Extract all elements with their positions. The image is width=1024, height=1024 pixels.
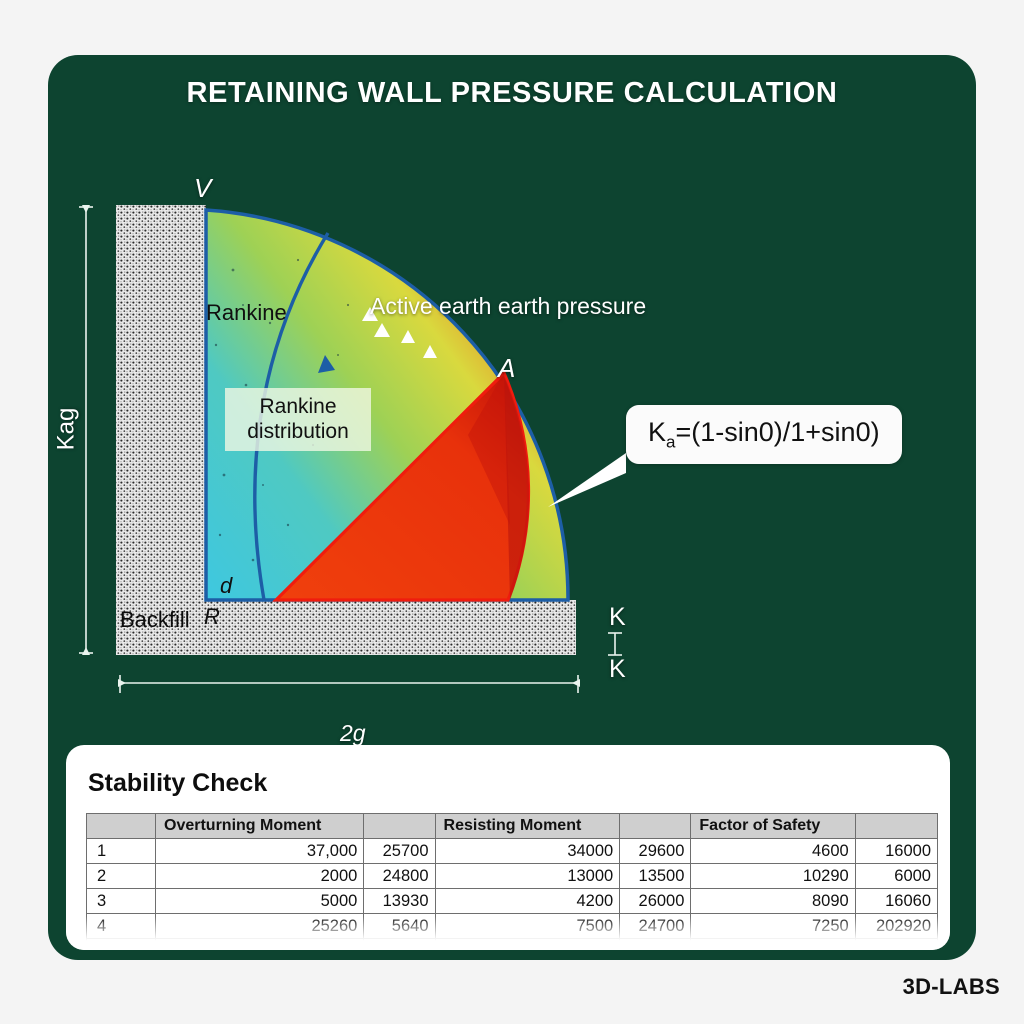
table-header-row: Overturning MomentResisting MomentFactor… [87,814,938,839]
table-cell: 4200 [435,889,620,914]
table-cell: 5640 [364,914,435,939]
label-k-lower: K [609,655,626,684]
label-kag-dimension: Kag [52,408,80,451]
row-index-cell: 4 [87,914,156,939]
table-cell: 7500 [435,914,620,939]
label-r: R [204,604,220,630]
rankine-callout-line2: distribution [247,420,349,445]
table-row[interactable]: 83380056000580059500668525000 [87,939,938,951]
row-index-cell: 8 [87,939,156,951]
label-a: A [498,353,515,384]
label-backfill: Backfill [120,607,190,633]
table-cell: 29600 [620,839,691,864]
table-cell: 59500 [620,939,691,951]
table-cell: 13500 [620,864,691,889]
table-row[interactable]: 42526056407500247007250202920 [87,914,938,939]
formula-ka-symbol: K [648,417,666,447]
table-cell: 34000 [435,839,620,864]
row-index-cell: 3 [87,889,156,914]
table-header-cell: Overturning Moment [156,814,364,839]
label-2g-dimension: 2g [340,720,366,747]
formula-expression: =(1-sin0)/1+sin0) [675,417,879,447]
label-active-pressure: Active earth earth pressure [370,293,646,320]
table-header-cell [87,814,156,839]
table-cell: 33800 [156,939,364,951]
table-row[interactable]: 22000248001300013500102906000 [87,864,938,889]
main-card: RETAINING WALL PRESSURE CALCULATION [48,55,976,960]
table-header-cell [855,814,937,839]
label-d: d [220,573,232,599]
table-body: 137,000257003400029600460016000220002480… [87,839,938,951]
table-row[interactable]: 3500013930420026000809016060 [87,889,938,914]
table-cell: 13930 [364,889,435,914]
table-row[interactable]: 137,000257003400029600460016000 [87,839,938,864]
horizontal-dimension-line [118,675,580,693]
table-cell: 37,000 [156,839,364,864]
table-cell: 25000 [855,939,937,951]
table-header-cell [364,814,435,839]
watermark: 3D-LABS [903,974,1000,1000]
table-cell: 24700 [620,914,691,939]
table-cell: 7250 [691,914,855,939]
table-cell: 25260 [156,914,364,939]
table-cell: 56000 [364,939,435,951]
table-cell: 4600 [691,839,855,864]
label-v: V [194,173,211,204]
table-cell: 2000 [156,864,364,889]
row-index-cell: 1 [87,839,156,864]
rankine-distribution-callout: Rankine distribution [225,388,371,451]
table-cell: 202920 [855,914,937,939]
table-cell: 26000 [620,889,691,914]
table-cell: 5000 [156,889,364,914]
table-header-cell: Factor of Safety [691,814,855,839]
table-cell: 25700 [364,839,435,864]
label-rankine: Rankine [206,300,287,326]
table-cell: 16060 [855,889,937,914]
table-cell: 6685 [691,939,855,951]
formula-leader-line [548,453,626,507]
k-dimension-tick [608,633,622,655]
rankine-callout-line1: Rankine [259,395,336,420]
table-cell: 5800 [435,939,620,951]
table-cell: 16000 [855,839,937,864]
table-header-cell [620,814,691,839]
table-cell: 24800 [364,864,435,889]
table-header-cell: Resisting Moment [435,814,620,839]
table-cell: 10290 [691,864,855,889]
table-cell: 6000 [855,864,937,889]
retaining-wall-diagram: V Rankine Active earth earth pressure A … [48,55,976,755]
stability-check-title: Stability Check [88,769,267,798]
stability-check-panel: Stability Check Overturning MomentResist… [66,745,950,950]
vertical-dimension-line [79,205,93,655]
stability-table: Overturning MomentResisting MomentFactor… [86,813,938,950]
table-cell: 13000 [435,864,620,889]
ka-formula-callout: Ka=(1-sin0)/1+sin0) [626,405,902,464]
table-cell: 8090 [691,889,855,914]
stability-table-scroll[interactable]: Overturning MomentResisting MomentFactor… [86,813,938,950]
label-k-upper: K [609,603,626,632]
row-index-cell: 2 [87,864,156,889]
